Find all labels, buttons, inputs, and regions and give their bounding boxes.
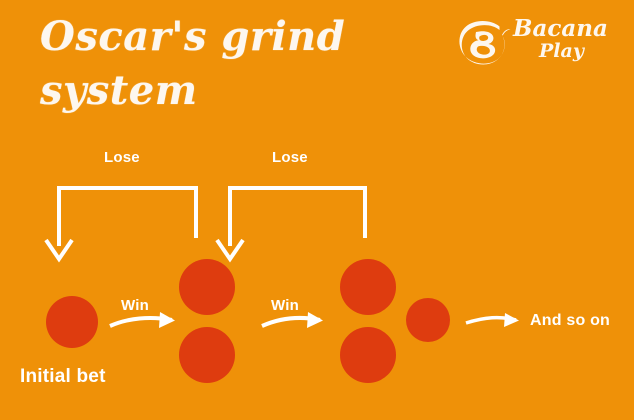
- label-initial-bet: Initial bet: [20, 366, 106, 388]
- chip-stage3-1: [340, 259, 396, 315]
- win-arrow-1: [110, 312, 175, 328]
- label-lose-1: Lose: [104, 149, 140, 166]
- label-and-so-on: And so on: [530, 312, 610, 330]
- chip-stage4-1: [406, 298, 450, 342]
- label-win-2: Win: [271, 297, 299, 314]
- grind-system-flow-diagram: Lose Lose Win Win Initial bet And so on: [0, 0, 634, 420]
- label-lose-2: Lose: [272, 149, 308, 166]
- lose-bracket-1: [59, 188, 196, 246]
- infographic-canvas: Oscar's grind system Bacana Play: [0, 0, 634, 420]
- chip-stage3-2: [340, 327, 396, 383]
- and-so-on-arrow: [466, 313, 519, 327]
- chip-stage1-1: [46, 296, 98, 348]
- chip-stage2-1: [179, 259, 235, 315]
- lose-bracket-2: [230, 188, 365, 246]
- label-win-1: Win: [121, 297, 149, 314]
- win-arrow-2: [262, 312, 323, 328]
- chip-stage2-2: [179, 327, 235, 383]
